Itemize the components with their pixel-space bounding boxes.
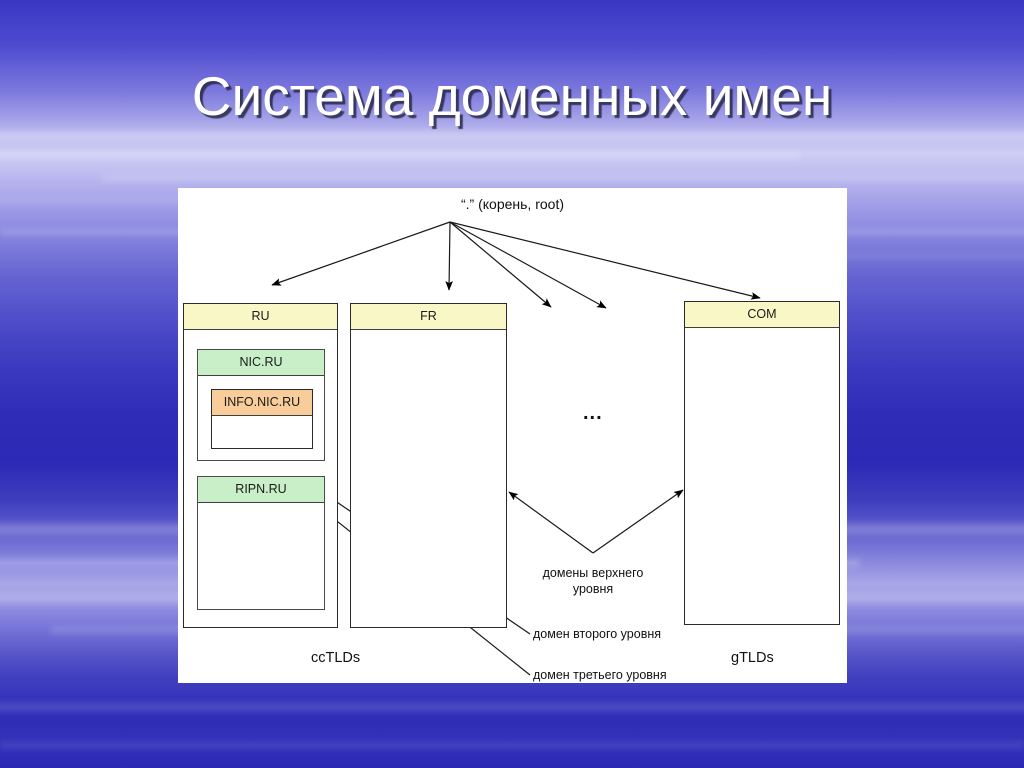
arrow-root-to-fr — [449, 222, 450, 290]
annotation-second-level: домен второго уровня — [533, 627, 661, 643]
second-level-box-ripn-ru-label: RIPN.RU — [198, 477, 324, 503]
arrow-root-to-unnamed-2 — [450, 222, 606, 308]
arrow-root-to-com — [450, 222, 760, 298]
second-level-box-ripn-ru[interactable]: RIPN.RU — [197, 476, 325, 610]
tld-box-ru-label: RU — [184, 304, 337, 330]
root-label: “.” (корень, root) — [178, 196, 847, 214]
top-level-callout-arrow — [509, 490, 683, 553]
slide-title: Система доменных имен — [0, 64, 1024, 128]
tld-box-fr-label: FR — [351, 304, 506, 330]
tld-box-com-label: COM — [685, 302, 839, 328]
arrow-toplevel-left — [509, 492, 593, 553]
third-level-box-info-nic-ru[interactable]: INFO.NIC.RU — [211, 389, 313, 449]
diagram-panel: “.” (корень, root) RU NIC.RU INFO.NIC.RU… — [178, 188, 847, 683]
ellipsis-more-tlds: ... — [583, 403, 603, 423]
annotation-top-level-line1: домены верхнего — [513, 566, 673, 582]
arrow-toplevel-right — [593, 490, 683, 553]
group-label-cctlds: ccTLDs — [311, 649, 360, 667]
tld-box-com[interactable]: COM — [684, 301, 840, 625]
annotation-third-level: домен третьего уровня — [533, 668, 667, 684]
second-level-box-nic-ru-label: NIC.RU — [198, 350, 324, 376]
arrow-root-to-ru — [272, 222, 450, 285]
third-level-box-info-nic-ru-label: INFO.NIC.RU — [212, 390, 312, 416]
slide: Система доменных имен — [0, 0, 1024, 768]
group-label-gtlds: gTLDs — [731, 649, 774, 667]
tld-box-ru[interactable]: RU NIC.RU INFO.NIC.RU RIPN.RU — [183, 303, 338, 628]
root-arrow-group — [272, 222, 760, 308]
annotation-top-level-line2: уровня — [513, 582, 673, 598]
tld-box-fr[interactable]: FR — [350, 303, 507, 628]
second-level-box-nic-ru[interactable]: NIC.RU INFO.NIC.RU — [197, 349, 325, 461]
